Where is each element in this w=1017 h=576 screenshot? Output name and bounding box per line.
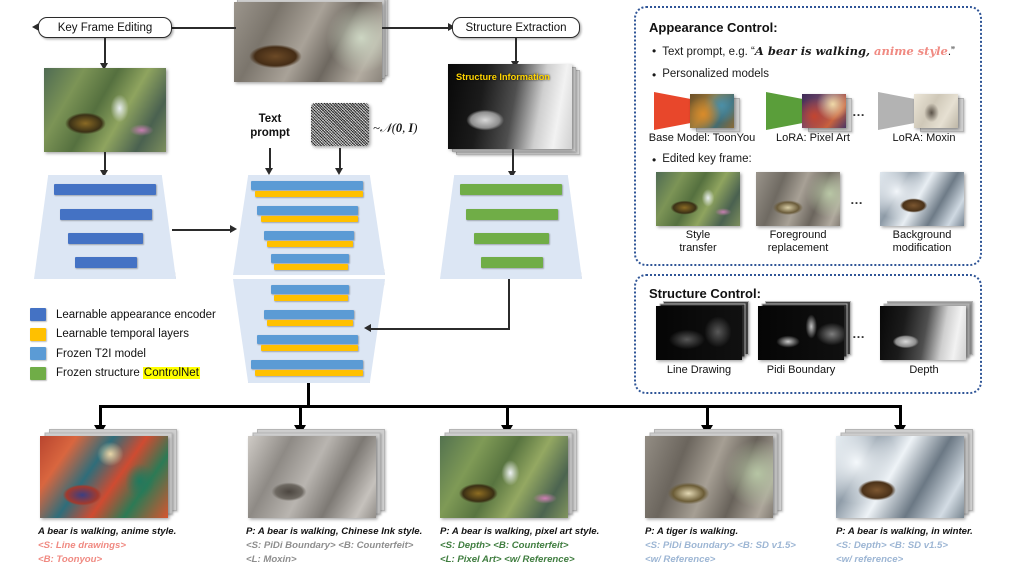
keyframe-fg-line2: replacement — [768, 242, 829, 254]
bullet-icon-2: • — [652, 69, 656, 81]
legend-item-appearance-encoder: Learnable appearance encoder — [30, 308, 280, 321]
source-video-stack — [234, 2, 382, 82]
result1-line3: <B: Toonyou> — [38, 553, 248, 567]
keyframe-fg-line1: Foreground — [770, 229, 827, 241]
appearance-bullet-edited-key-frame: • Edited key frame: — [652, 153, 752, 166]
result5-prompt-bold: P: A bear is walking, — [836, 526, 929, 537]
line-textprompt-down — [269, 148, 271, 170]
result3-line3: <L: Pixel Art> <w/ Reference> — [440, 553, 660, 567]
noise-latent-image — [311, 103, 369, 146]
controlnet-bar-2 — [466, 209, 558, 220]
result-caption-3: P: A bear is walking, pixel art style. <… — [440, 525, 660, 567]
pidi-boundary-image — [758, 306, 844, 360]
toonyou-thumb-stack — [690, 94, 734, 128]
legend-swatch-blue — [30, 308, 46, 321]
bullet-icon-1: • — [652, 45, 656, 57]
legend-label-frozen-structure: Frozen structure — [56, 367, 143, 379]
result4-line2: <S: PiDi Boundary> <B: SD v1.5> — [645, 539, 845, 553]
result4-line3: <w/ Reference> — [645, 553, 845, 567]
moxin-thumb-stack — [914, 94, 958, 128]
structure-label-pidi-boundary: Pidi Boundary — [748, 364, 854, 377]
model-toonyou[interactable] — [654, 92, 738, 130]
appearance-bullet1-text: Text prompt, e.g. “A bear is walking, an… — [662, 44, 955, 58]
appearance-bullet-text-prompt: • Text prompt, e.g. “A bear is walking, … — [652, 44, 955, 58]
line-drawing-image — [656, 306, 742, 360]
result2-line3: <L: Moxin> — [246, 553, 456, 567]
bullet1-post: .” — [948, 46, 955, 58]
line-keyframe-down — [104, 38, 106, 65]
line-branch-2 — [299, 405, 302, 427]
structure-control-title: Structure Control: — [649, 286, 761, 301]
arrow-appearance-to-unet — [230, 225, 237, 233]
model-moxin[interactable] — [878, 92, 962, 130]
text-prompt-label: Textprompt — [240, 112, 300, 141]
controlnet-bar-4 — [481, 257, 543, 268]
result1-prompt-bold: A bear is walking, — [38, 526, 119, 537]
result5-line2: <S: Depth> <B: SD v1.5> — [836, 539, 1017, 553]
bullet-icon-3: • — [652, 154, 656, 166]
result-stack-4 — [645, 436, 773, 518]
result-stack-2 — [248, 436, 376, 518]
line-source-to-structure — [382, 27, 450, 29]
appearance-control-panel: Appearance Control: • Text prompt, e.g. … — [634, 6, 982, 266]
legend-item-temporal-layers: Learnable temporal layers — [30, 328, 280, 341]
legend-swatch-yellow — [30, 328, 46, 341]
structure-extraction-box[interactable]: Structure Extraction — [452, 17, 580, 38]
model-label-toonyou: Base Model: ToonYou — [638, 132, 766, 145]
line-noise-down — [339, 148, 341, 170]
result-image-2 — [248, 436, 376, 518]
appearance-bar-3 — [68, 233, 143, 244]
result-caption-1: A bear is walking, anime style. <S: Line… — [38, 525, 248, 567]
line-branch-4 — [706, 405, 709, 427]
pixelart-thumb — [802, 94, 846, 128]
result3-line2: <S: Depth> <B: Counterfeit> — [440, 539, 660, 553]
appearance-bullet3-text: Edited key frame: — [662, 153, 751, 165]
legend-item-frozen-t2i: Frozen T2I model — [30, 347, 280, 360]
result-stack-1 — [40, 436, 168, 518]
pidi-boundary-stack[interactable] — [758, 306, 844, 360]
result2-prompt-accent: Chinese Ink style. — [339, 526, 423, 537]
controlnet-bar-1 — [460, 184, 562, 195]
unet-enc-t2i-3 — [264, 231, 354, 240]
result2-line2: <S: PiDi Boundary> <B: Counterfeit> — [246, 539, 456, 553]
structure-information-label: Structure Information — [456, 72, 550, 82]
appearance-bullet2-text: Personalized models — [662, 68, 769, 80]
result-image-5 — [836, 436, 964, 518]
line-branch-5 — [899, 405, 902, 427]
legend: Learnable appearance encoder Learnable t… — [30, 308, 280, 386]
moxin-thumb — [914, 94, 958, 128]
unet-dec-temporal-1 — [274, 295, 348, 301]
structure-ellipsis: … — [852, 326, 866, 341]
model-label-moxin: LoRA: Moxin — [876, 132, 972, 145]
result-caption-2: P: A bear is walking, Chinese Ink style.… — [246, 525, 456, 567]
result-image-4 — [645, 436, 773, 518]
legend-label-appearance-encoder: Learnable appearance encoder — [56, 309, 216, 321]
appearance-bullet-personalized-models: • Personalized models — [652, 68, 769, 81]
appearance-control-title: Appearance Control: — [649, 20, 778, 35]
result1-prompt-accent: anime style. — [119, 526, 177, 537]
arrow-textprompt-down — [265, 168, 273, 175]
keyframe-style-transfer-image[interactable] — [656, 172, 740, 226]
noise-distribution-label: ~𝒩(0, I) — [373, 120, 417, 136]
keyframe-background-modification-image[interactable] — [880, 172, 964, 226]
result1-line2: <S: Line drawings> — [38, 539, 248, 553]
legend-label-frozen-t2i: Frozen T2I model — [56, 348, 146, 360]
bullet1-bold: A bear is walking, — [755, 44, 874, 58]
edited-key-frame-image — [44, 68, 166, 152]
appearance-bar-4 — [75, 257, 137, 268]
toonyou-thumb — [690, 94, 734, 128]
key-frame-editing-label: Key Frame Editing — [58, 22, 153, 34]
line-branch-1 — [99, 405, 102, 427]
keyframe-label-style-transfer: Style transfer — [656, 229, 740, 254]
key-frame-editing-box[interactable]: Key Frame Editing — [38, 17, 172, 38]
legend-swatch-lightblue — [30, 347, 46, 360]
legend-label-frozen-controlnet: Frozen structure ControlNet — [56, 367, 200, 379]
controlnet-encoder — [440, 175, 582, 279]
unet-enc-temporal-1 — [255, 191, 363, 197]
result-caption-4: P: A tiger is walking. <S: PiDi Boundary… — [645, 525, 845, 567]
unet-enc-t2i-4 — [271, 254, 349, 263]
structure-control-panel: Structure Control: Line Drawing Pidi Bou… — [634, 274, 982, 394]
legend-item-frozen-controlnet: Frozen structure ControlNet — [30, 367, 280, 380]
line-unet-output-down — [307, 383, 310, 407]
unet-enc-temporal-3 — [267, 241, 353, 247]
pixelart-thumb-stack — [802, 94, 846, 128]
result4-prompt-accent: tiger — [666, 526, 687, 537]
line-branch-3 — [506, 405, 509, 427]
model-pixelart[interactable] — [766, 92, 850, 130]
unet-enc-t2i-1 — [251, 181, 363, 190]
appearance-bar-2 — [60, 209, 152, 220]
result3-prompt-bold: P: A bear is walking, — [440, 526, 533, 537]
appearance-encoder — [34, 175, 176, 279]
line-output-bus — [99, 405, 899, 408]
depth-image — [880, 306, 966, 360]
bullet1-pre: Text prompt, e.g. “ — [662, 46, 755, 58]
legend-label-controlnet-highlight: ControlNet — [143, 367, 200, 379]
appearance-bar-1 — [54, 184, 156, 195]
result-image-3 — [440, 436, 568, 518]
line-editedframe-down — [104, 152, 106, 172]
arrow-noise-down — [335, 168, 343, 175]
legend-label-temporal-layers: Learnable temporal layers — [56, 328, 189, 340]
source-video-frame — [234, 2, 382, 82]
unet-enc-temporal-4 — [274, 264, 348, 270]
model-label-pixelart: LoRA: Pixel Art — [758, 132, 868, 145]
line-structinfo-down — [512, 149, 514, 173]
unet-dec-t2i-1 — [271, 285, 349, 294]
result5-line3: <w/ reference> — [836, 553, 1017, 567]
result-image-1 — [40, 436, 168, 518]
structure-label-depth: Depth — [876, 364, 972, 377]
structure-label-line-drawing: Line Drawing — [648, 364, 750, 377]
line-controlnet-to-unet — [368, 328, 510, 330]
depth-stack[interactable] — [880, 306, 966, 360]
unet-enc-temporal-2 — [261, 216, 358, 222]
result-stack-5 — [836, 436, 964, 518]
result4-prompt-bold-pre: P: A — [645, 526, 666, 537]
controlnet-bar-3 — [474, 233, 549, 244]
main-unet-encoder — [233, 175, 385, 275]
line-controlnet-down — [508, 279, 510, 329]
arrow-controlnet-to-unet — [364, 324, 371, 332]
keyframe-style-line2: transfer — [679, 242, 716, 254]
keyframe-label-background-modification: Background modification — [874, 229, 970, 254]
keyframes-ellipsis: … — [850, 192, 864, 207]
line-drawing-stack[interactable] — [656, 306, 742, 360]
result5-prompt-accent: in winter. — [929, 526, 973, 537]
keyframe-bg-line2: modification — [893, 242, 952, 254]
line-appearance-to-unet — [172, 229, 232, 231]
result4-prompt-bold-post: is walking. — [687, 526, 738, 537]
keyframe-bg-line1: Background — [893, 229, 952, 241]
line-structextract-down — [515, 38, 517, 63]
result-caption-5: P: A bear is walking, in winter. <S: Dep… — [836, 525, 1017, 567]
models-ellipsis: … — [852, 104, 866, 119]
result-stack-3 — [440, 436, 568, 518]
keyframe-foreground-replacement-image[interactable] — [756, 172, 840, 226]
bullet1-accent: anime style — [874, 44, 948, 58]
keyframe-label-foreground-replacement: Foreground replacement — [750, 229, 846, 254]
unet-enc-t2i-2 — [257, 206, 358, 215]
legend-swatch-green — [30, 367, 46, 380]
keyframe-style-line1: Style — [686, 229, 710, 241]
result3-prompt-accent: pixel art style. — [533, 526, 600, 537]
structure-extraction-label: Structure Extraction — [466, 22, 567, 34]
result2-prompt-bold: P: A bear is walking, — [246, 526, 339, 537]
